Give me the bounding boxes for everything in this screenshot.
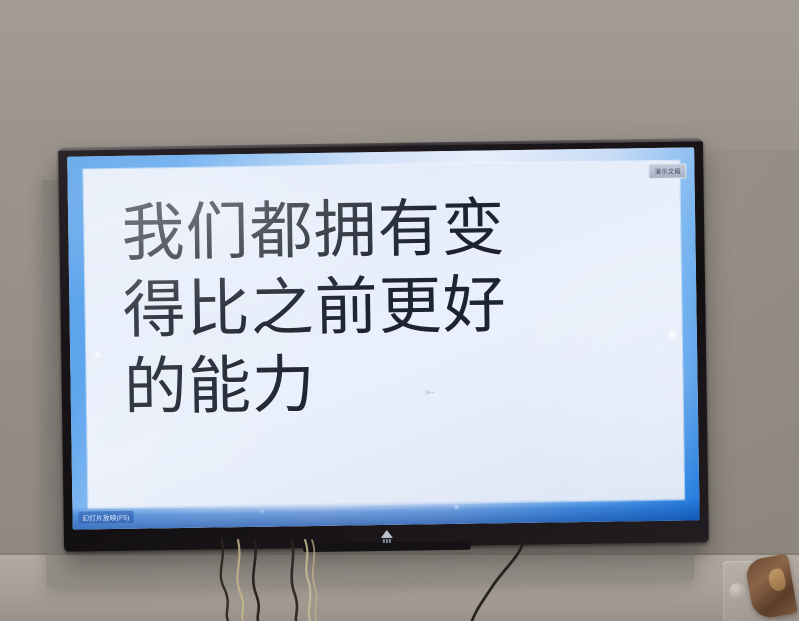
screen-glare-speck — [95, 352, 100, 357]
slideshow-mode-label: 幻灯片放映(F5) — [78, 511, 133, 524]
slide-text-line-1: 我们都拥有变 — [121, 189, 652, 270]
slide-text-line-2: 得比之前更好 — [122, 266, 653, 347]
presentation-slide[interactable]: 我们都拥有变 得比之前更好 的能力 ⇤ 演示文稿 幻灯片放映(F5) — [67, 147, 699, 529]
mountain-triangle-logo-icon — [380, 530, 392, 543]
text-cursor-icon: ⇤ — [425, 386, 432, 397]
wall-upper-shading — [0, 0, 799, 150]
slide-status-badge: 演示文稿 — [649, 163, 687, 179]
tv-bezel: 我们都拥有变 得比之前更好 的能力 ⇤ 演示文稿 幻灯片放映(F5) — [58, 138, 709, 552]
wall-mounted-television[interactable]: 我们都拥有变 得比之前更好 的能力 ⇤ 演示文稿 幻灯片放映(F5) — [58, 138, 709, 552]
slide-text-block: 我们都拥有变 得比之前更好 的能力 — [121, 189, 654, 424]
slide-text-line-3: 的能力 — [123, 343, 654, 424]
tv-screen[interactable]: 我们都拥有变 得比之前更好 的能力 ⇤ 演示文稿 幻灯片放映(F5) — [67, 147, 699, 529]
wall-mounted-fixture — [719, 543, 793, 621]
fixture-knob-icon — [729, 583, 745, 599]
